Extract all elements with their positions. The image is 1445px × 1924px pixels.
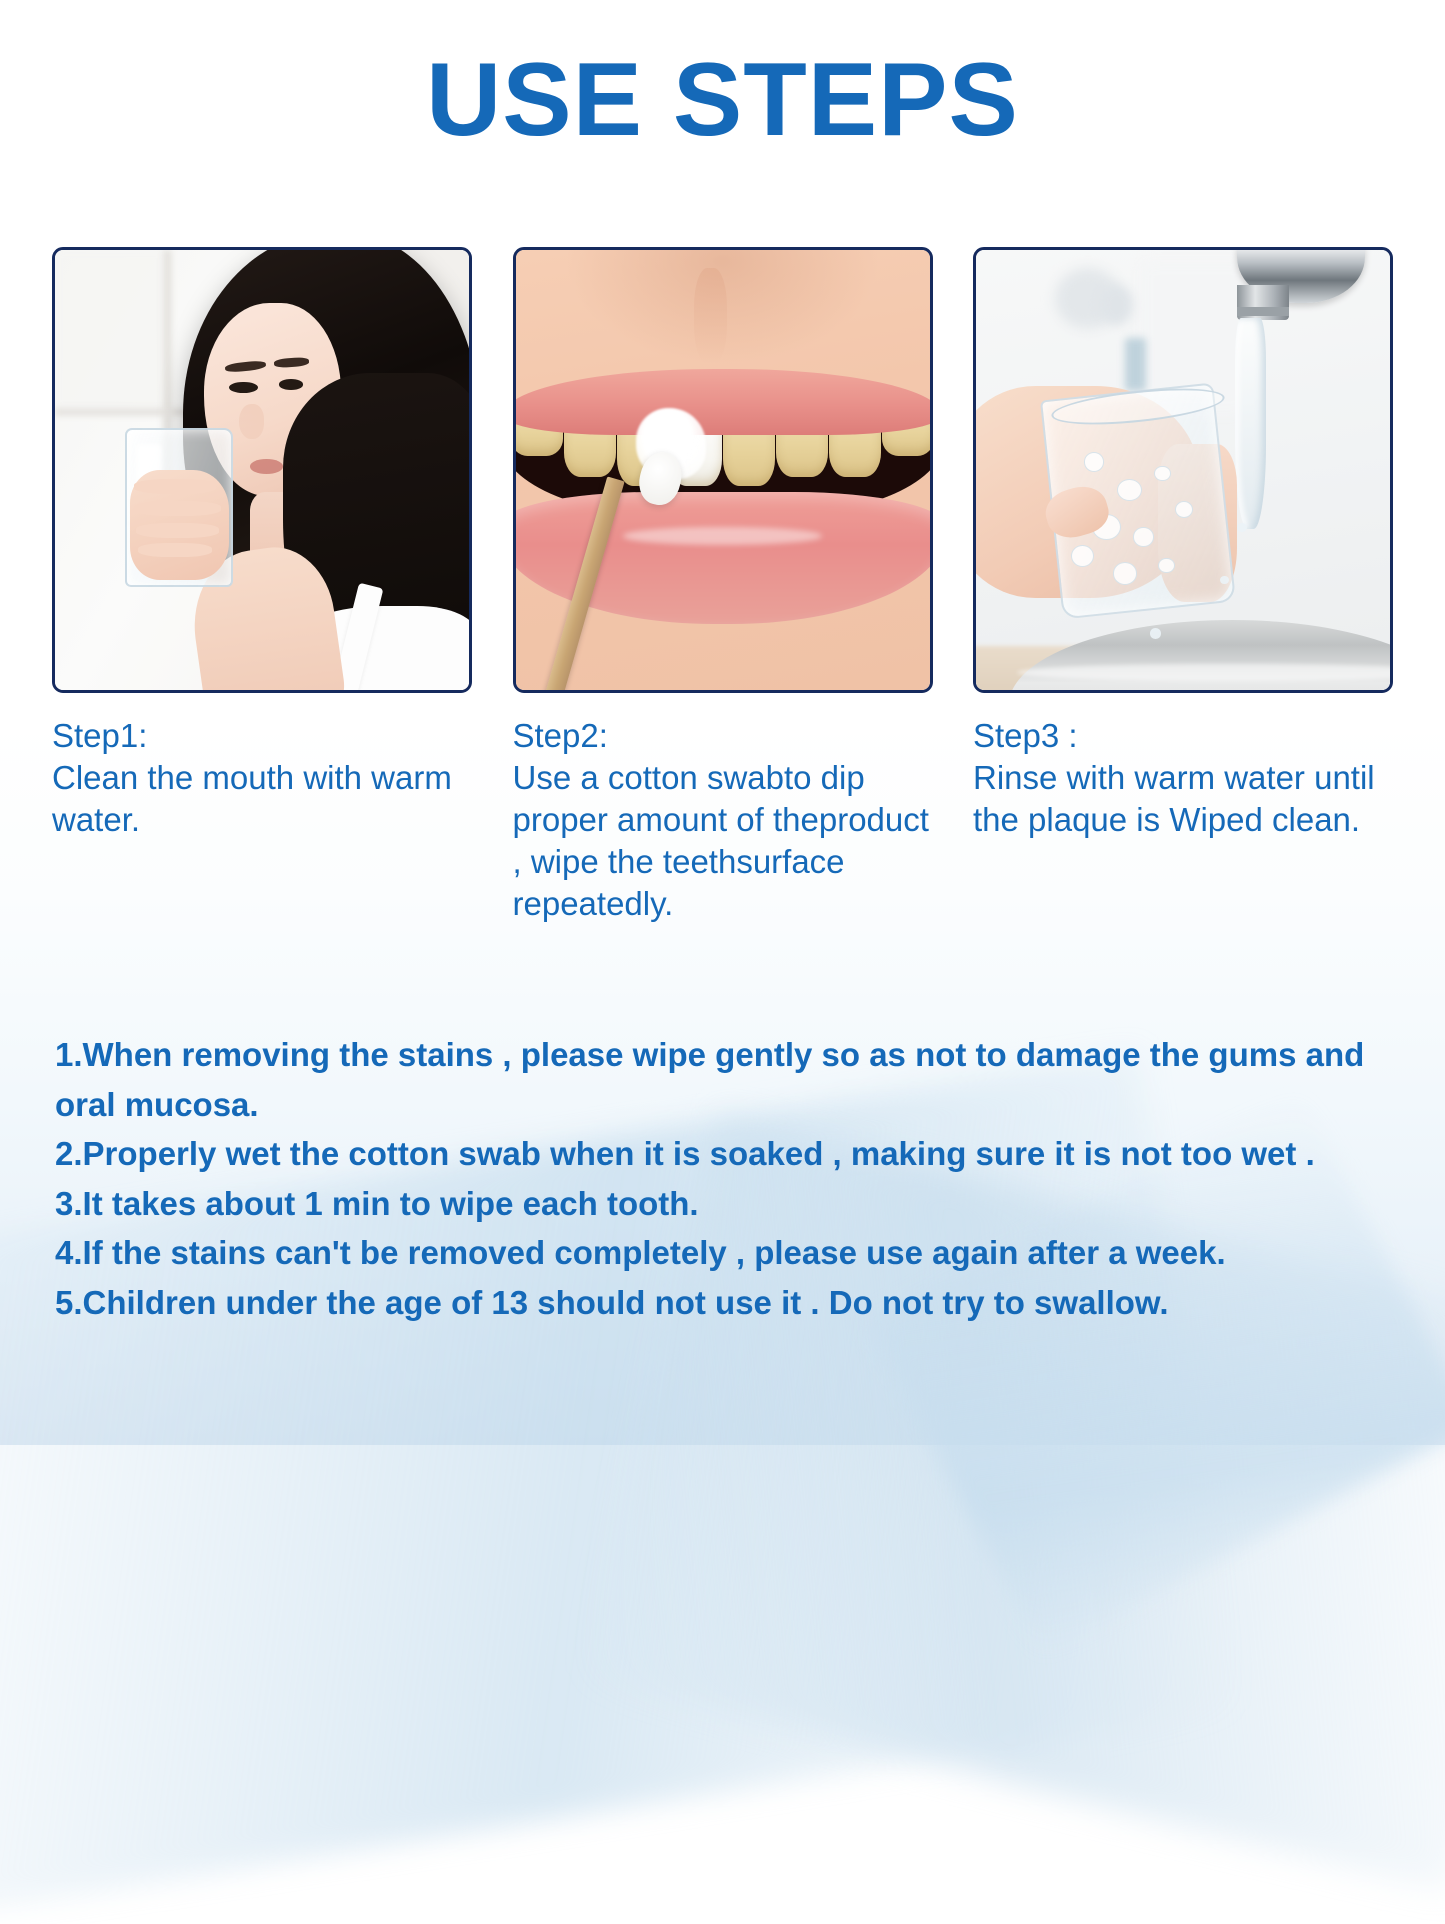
usage-note-4: 4.If the stains can't be removed complet… xyxy=(55,1228,1415,1278)
step-2-heading: Step2: xyxy=(513,715,933,757)
infographic-page: USE STEPS xyxy=(0,0,1445,1445)
photo3-bubble xyxy=(1158,558,1175,573)
usage-note-1: 1.When removing the stains , please wipe… xyxy=(55,1030,1415,1129)
step-3-body: Rinse with warm water until the plaque i… xyxy=(973,757,1393,841)
step-2-photo-frame xyxy=(513,247,933,693)
rinsing-glass-under-faucet-photo xyxy=(976,250,1390,690)
photo2-philtrum xyxy=(694,268,727,365)
step-2-caption: Step2: Use a cotton swabto dip proper am… xyxy=(513,715,933,925)
photo1-window-panel xyxy=(55,250,163,408)
photo1-eye-right xyxy=(279,379,304,390)
step-3-heading: Step3 : xyxy=(973,715,1393,757)
photo2-lower-lip-highlight xyxy=(623,527,822,545)
steps-row: Step1: Clean the mouth with warm water. xyxy=(0,247,1445,925)
photo3-blurred-object-3 xyxy=(1125,338,1146,391)
step-1-body: Clean the mouth with warm water. xyxy=(52,757,472,841)
step-2-body: Use a cotton swabto dip proper amount of… xyxy=(513,757,933,925)
usage-note-3: 3.It takes about 1 min to wipe each toot… xyxy=(55,1179,1415,1229)
step-3-photo-frame xyxy=(973,247,1393,693)
photo3-faucet-ring xyxy=(1237,307,1289,316)
step-1-caption: Step1: Clean the mouth with warm water. xyxy=(52,715,472,841)
photo1-finger-4 xyxy=(138,543,213,557)
photo1-finger-2 xyxy=(134,501,221,516)
photo1-lips xyxy=(250,459,283,474)
step-card-3: Step3 : Rinse with warm water until the … xyxy=(973,247,1393,925)
usage-notes-list: 1.When removing the stains , please wipe… xyxy=(55,1030,1415,1327)
photo3-bubble xyxy=(1133,527,1154,546)
photo3-bubble xyxy=(1117,479,1142,501)
photo3-bubble xyxy=(1071,545,1094,567)
photo3-water-stream xyxy=(1235,318,1266,529)
usage-note-2: 2.Properly wet the cotton swab when it i… xyxy=(55,1129,1415,1179)
photo3-blurred-object-2 xyxy=(1100,285,1133,325)
photo1-nose xyxy=(239,404,264,439)
photo1-finger-1 xyxy=(134,479,217,494)
photo3-bubble xyxy=(1154,466,1171,482)
step-card-1: Step1: Clean the mouth with warm water. xyxy=(52,247,472,925)
step-3-caption: Step3 : Rinse with warm water until the … xyxy=(973,715,1393,841)
usage-note-5: 5.Children under the age of 13 should no… xyxy=(55,1278,1415,1328)
photo1-finger-3 xyxy=(136,523,219,538)
cotton-swab-on-teeth-photo xyxy=(516,250,930,690)
woman-drinking-water-photo xyxy=(55,250,469,690)
page-title: USE STEPS xyxy=(0,0,1445,152)
photo3-water-droplet xyxy=(1237,523,1247,533)
step-1-heading: Step1: xyxy=(52,715,472,757)
photo3-water-droplet xyxy=(1220,576,1228,584)
photo3-water-droplet xyxy=(1150,628,1161,639)
step-1-photo-frame xyxy=(52,247,472,693)
step-card-2: Step2: Use a cotton swabto dip proper am… xyxy=(513,247,933,925)
